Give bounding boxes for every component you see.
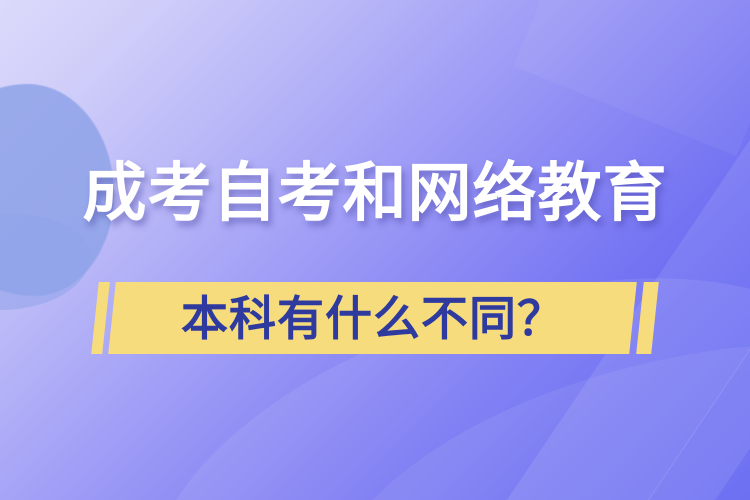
promo-poster: 成考自考和网络教育 本科有什么不同？	[0, 0, 750, 500]
ribbon-body: 本科有什么不同？	[108, 282, 637, 354]
poster-subtitle-text: 本科有什么不同？	[181, 295, 565, 342]
poster-subtitle-ribbon: 本科有什么不同？	[91, 282, 659, 354]
poster-headline: 成考自考和网络教育	[0, 158, 750, 230]
